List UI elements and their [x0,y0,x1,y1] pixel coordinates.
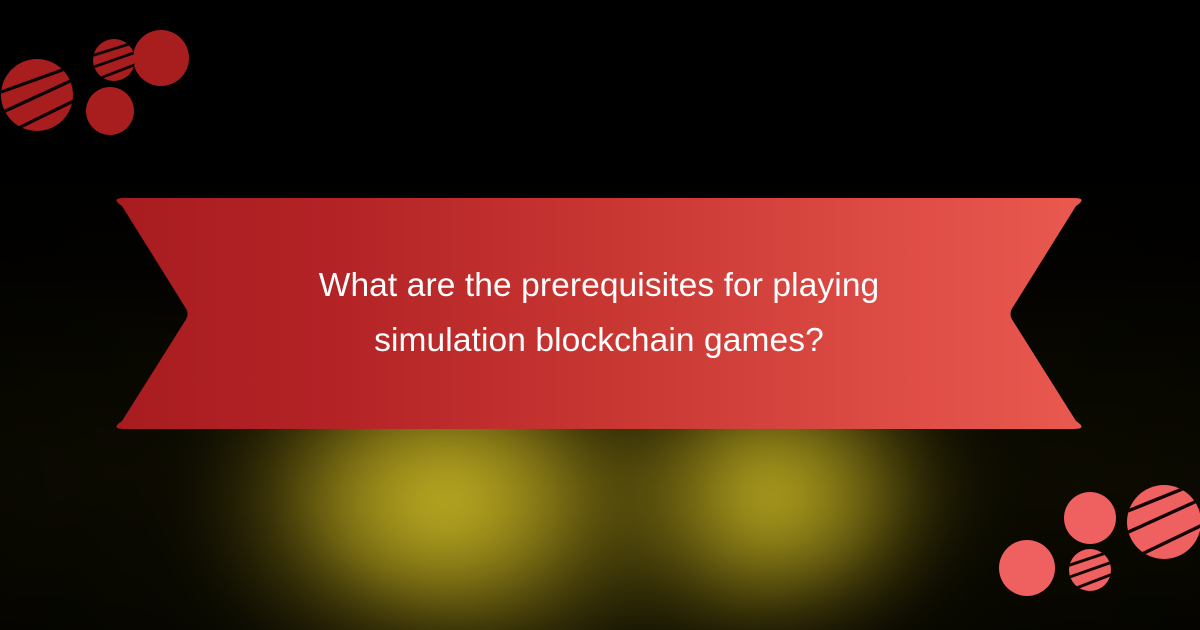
circle-striped-large-icon [0,59,92,140]
circle-striped-large-icon [1113,475,1200,567]
circle-striped-small-icon [88,39,142,82]
circle-plain-large-icon [133,30,189,86]
circle-plain-large-icon [1064,492,1116,544]
circle-striped-small-icon [1064,549,1118,592]
decoration-cluster-top-left [0,0,220,150]
circle-plain-medium-icon [999,540,1055,596]
share-card: What are the prerequisites for playing s… [0,0,1200,630]
headline-text: What are the prerequisites for playing s… [108,197,1090,430]
circle-plain-medium-icon [86,87,134,135]
headline-banner: What are the prerequisites for playing s… [108,197,1090,430]
decoration-cluster-bottom-right [985,475,1200,630]
